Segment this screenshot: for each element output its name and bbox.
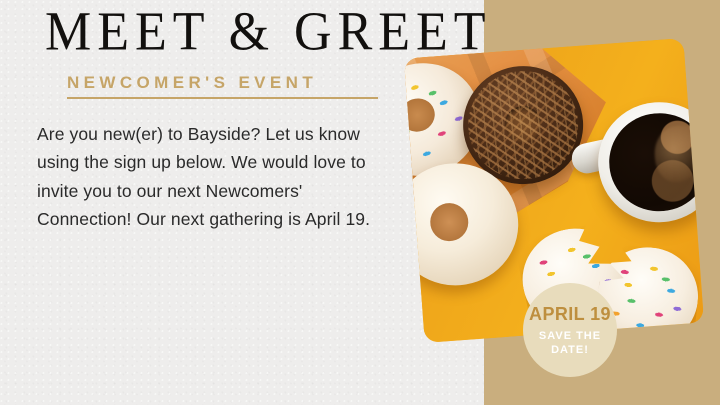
badge-caption-line-2: DATE! bbox=[551, 344, 589, 356]
badge-caption-line-1: SAVE THE bbox=[539, 330, 601, 342]
badge-caption: SAVE THE DATE! bbox=[539, 330, 601, 358]
mug-body-icon bbox=[594, 98, 704, 227]
event-description: Are you new(er) to Bayside? Let us know … bbox=[37, 120, 387, 233]
coffee-liquid-icon bbox=[606, 109, 704, 214]
save-the-date-badge: APRIL 19 SAVE THE DATE! bbox=[523, 283, 617, 377]
event-subtitle: NEWCOMER'S EVENT bbox=[67, 73, 378, 93]
event-announcement-slide: MEET & GREET NEWCOMER'S EVENT Are you ne… bbox=[0, 0, 720, 405]
badge-date-label: APRIL 19 bbox=[529, 305, 611, 323]
subtitle-block: NEWCOMER'S EVENT bbox=[67, 73, 378, 99]
subtitle-underline bbox=[67, 97, 378, 99]
page-title: MEET & GREET bbox=[45, 4, 445, 62]
coffee-mug-icon bbox=[594, 98, 704, 227]
